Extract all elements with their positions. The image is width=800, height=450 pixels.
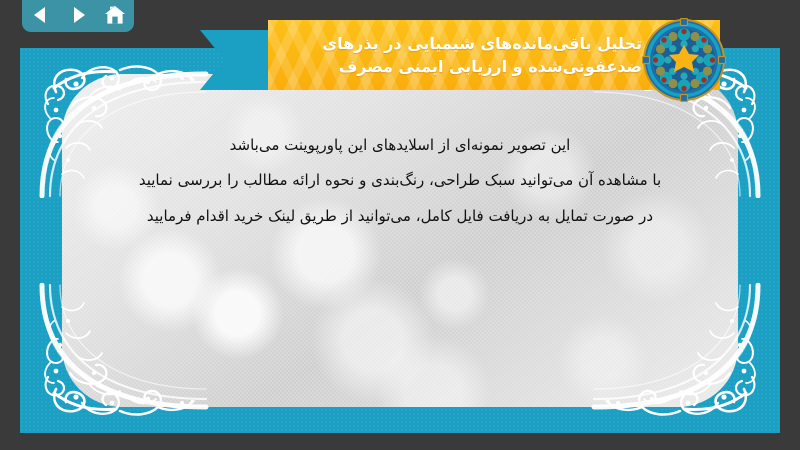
slide-title-line-2: ضدعفونی‌شده و ارزیابی ایمنی مصرف: [339, 55, 642, 78]
slide-title-line-1: تحلیل باقی‌مانده‌های شیمیایی در بذرهای: [322, 32, 642, 55]
slide-title-banner: تحلیل باقی‌مانده‌های شیمیایی در بذرهای ض…: [200, 20, 720, 90]
presentation-viewer: تحلیل باقی‌مانده‌های شیمیایی در بذرهای ض…: [0, 0, 800, 450]
viewer-toolbar: [22, 0, 134, 32]
slide-canvas: [20, 48, 780, 433]
body-line-2: با مشاهده آن می‌توانید سبک طراحی، رنگ‌بن…: [70, 163, 730, 198]
body-line-3: در صورت تمایل به دریافت فایل کامل، می‌تو…: [70, 199, 730, 234]
slide-content-panel: [62, 74, 738, 407]
next-slide-button[interactable]: [65, 2, 91, 28]
previous-slide-button[interactable]: [28, 2, 54, 28]
persian-medallion-ornament: [642, 18, 726, 102]
slide-body-text: این تصویر نمونه‌ای از اسلایدهای این پاور…: [70, 128, 730, 234]
home-button[interactable]: [102, 2, 128, 28]
ribbon-tail-arrow: [200, 30, 272, 90]
body-line-1: این تصویر نمونه‌ای از اسلایدهای این پاور…: [70, 128, 730, 163]
